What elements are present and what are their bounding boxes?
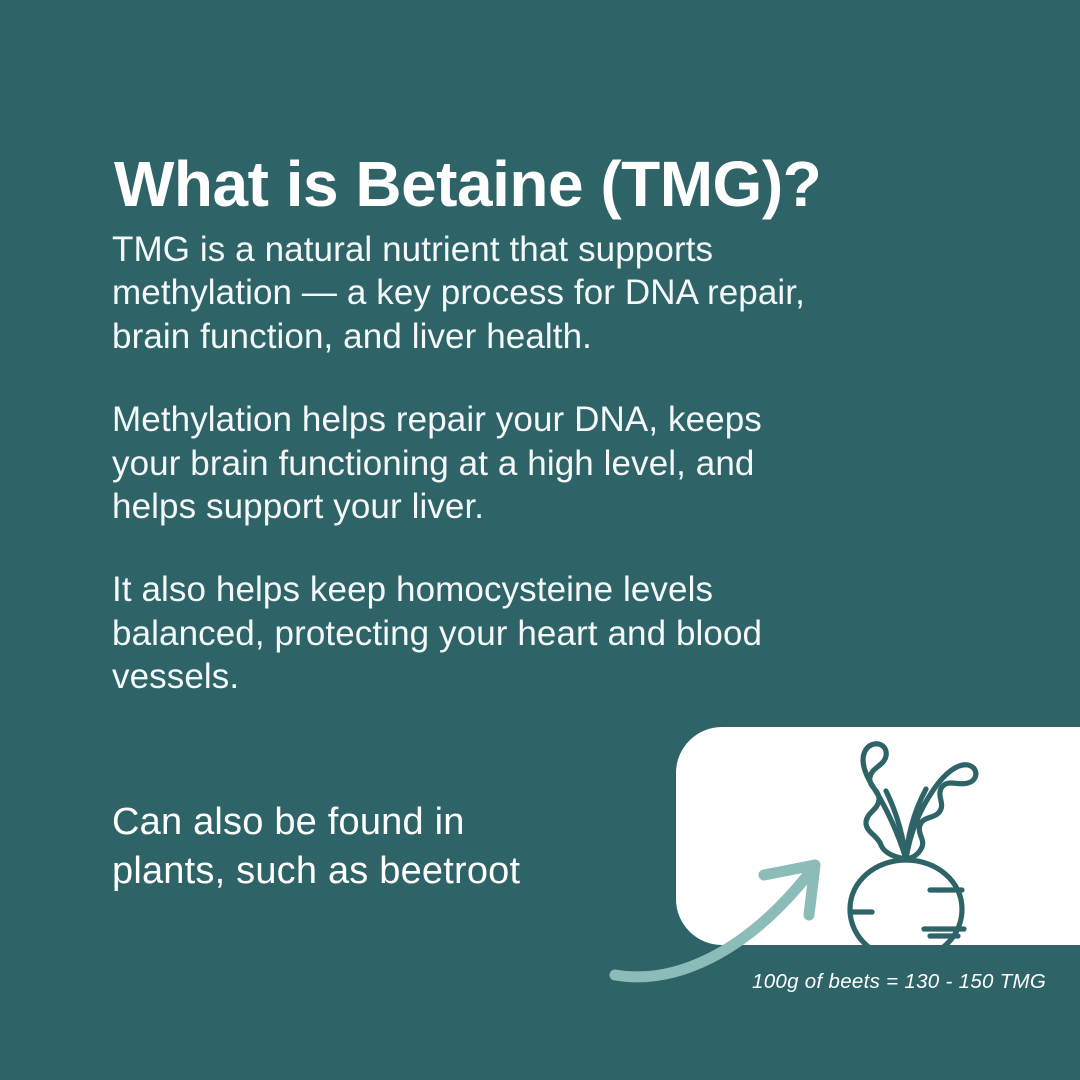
body-copy: TMG is a natural nutrient that supports … xyxy=(112,228,972,699)
paragraph-3: It also helps keep homocysteine levels b… xyxy=(112,568,972,698)
beetroot-caption: 100g of beets = 130 - 150 TMG xyxy=(752,970,1046,994)
paragraph-2: Methylation helps repair your DNA, keeps… xyxy=(112,398,972,528)
paragraph-1: TMG is a natural nutrient that supports … xyxy=(112,228,972,358)
callout-text: Can also be found in plants, such as bee… xyxy=(112,798,672,897)
slide-canvas: What is Betaine (TMG)? TMG is a natural … xyxy=(0,0,1080,1080)
beetroot-card xyxy=(676,727,1080,945)
beetroot-icon xyxy=(806,729,1006,945)
page-title: What is Betaine (TMG)? xyxy=(114,151,994,218)
